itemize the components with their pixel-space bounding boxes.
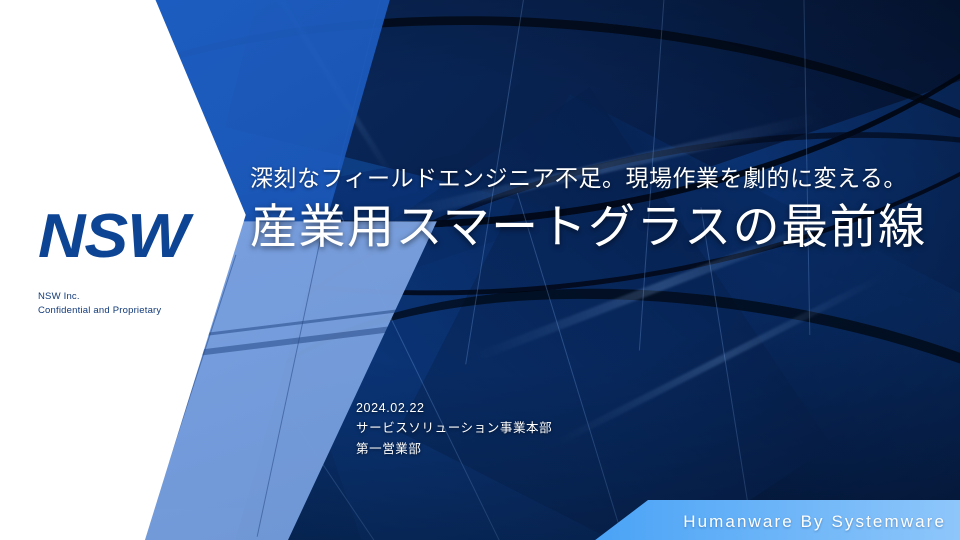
slide-subtitle: 深刻なフィールドエンジニア不足。現場作業を劇的に変える。 [250,164,940,193]
corporate-tagline: Humanware By Systemware [683,512,946,532]
confidentiality-notice: NSW Inc. Confidential and Proprietary [38,290,258,318]
department-name: 第一営業部 [356,439,552,459]
headline-block: 深刻なフィールドエンジニア不足。現場作業を劇的に変える。 産業用スマートグラスの… [250,164,940,253]
nsw-logo-wordmark: NSW [38,206,271,268]
title-slide: NSW NSW Inc. Confidential and Proprietar… [0,0,960,540]
brand-logo-block: NSW NSW Inc. Confidential and Proprietar… [38,206,258,318]
presentation-date: 2024.02.22 [356,398,552,418]
slide-title: 産業用スマートグラスの最前線 [250,201,940,254]
slide-meta-block: 2024.02.22 サービスソリューション事業本部 第一営業部 [356,398,552,459]
division-name: サービスソリューション事業本部 [356,418,552,438]
